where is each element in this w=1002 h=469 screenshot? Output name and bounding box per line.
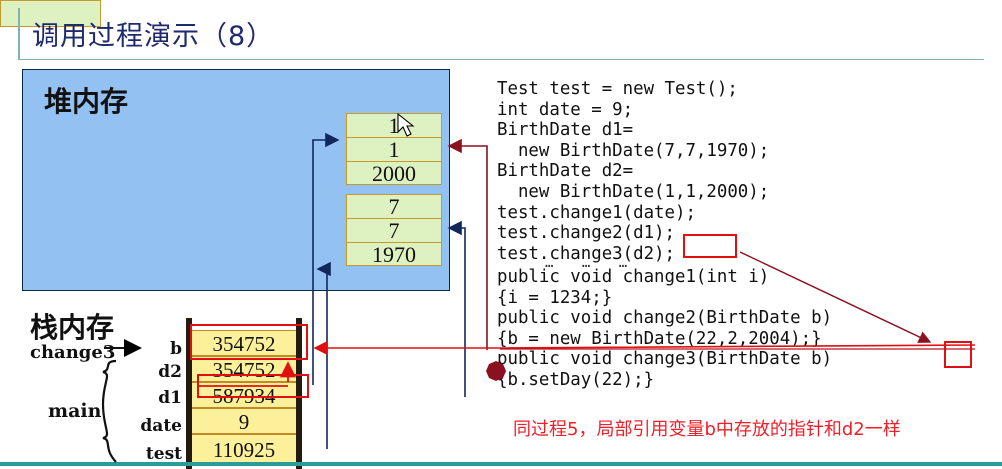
heap-cell: 1	[347, 114, 441, 138]
stack-var-label-d1: d1	[112, 388, 182, 408]
highlight-box-call-arg	[683, 234, 737, 258]
heap-cell: 1970	[347, 243, 441, 267]
highlight-box-param-b	[944, 341, 972, 368]
heap-cell: 7	[347, 219, 441, 243]
stack-var-label-d2: d2	[112, 362, 182, 382]
heap-object-d2: 1 1 2000	[346, 113, 442, 185]
stack-frame-label-change3: change3	[30, 342, 115, 363]
arrow-test-to-heap-object	[318, 269, 327, 449]
arrow-b-to-heap-object	[449, 146, 487, 350]
stack-var-label-date: date	[112, 416, 182, 436]
bottom-rule	[0, 462, 1002, 466]
code-block-methods: public void change1(int i) {i = 1234;} p…	[497, 267, 832, 391]
heap-cell: 1	[347, 138, 441, 162]
stack-label: 栈内存	[30, 306, 114, 346]
highlight-box-d2-slot	[197, 374, 309, 398]
arrow-d1-to-heap-object	[449, 228, 465, 397]
stack-frame-label-main: main	[48, 400, 101, 422]
explanation-note: 同过程5，局部引用变量b中存放的指针和d2一样	[513, 415, 901, 441]
page-title: 调用过程演示（8）	[32, 14, 274, 53]
heap-object-d1: 7 7 1970	[346, 194, 442, 266]
stack-row: 9	[192, 408, 296, 434]
stack-row: 110925	[192, 434, 296, 464]
highlight-box-b-slot	[190, 324, 308, 360]
heap-label: 堆内存	[44, 80, 128, 120]
heap-cell: 7	[347, 195, 441, 219]
stack-var-label-b: b	[112, 339, 182, 359]
stack-var-label-test: test	[112, 444, 182, 464]
heap-cell: 2000	[347, 162, 441, 186]
